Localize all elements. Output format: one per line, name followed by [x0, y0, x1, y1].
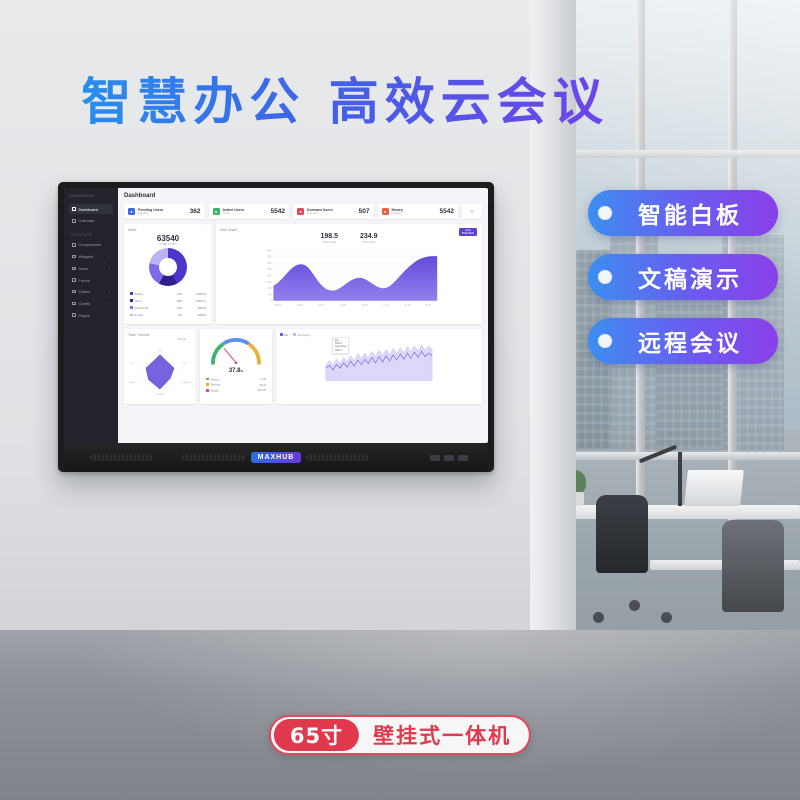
legend-total: 22874.4 [184, 298, 206, 303]
gauge-legend-label: Danger [211, 390, 220, 393]
kpi-value: 198.5 [320, 233, 338, 240]
widgets-icon [72, 255, 76, 259]
stat-value: 507 [359, 208, 370, 215]
gauge-legend-range: 66-100 [245, 389, 266, 393]
feature-pill-whiteboard: 智能白板 [588, 190, 778, 236]
dashboard-icon [72, 207, 76, 211]
sidebar-brand: DASHBOARD [69, 194, 113, 198]
svg-text:10-05: 10-05 [340, 305, 347, 307]
chevron-right-icon: › [109, 243, 110, 247]
chevron-right-icon: › [109, 290, 110, 294]
sidebar-item-dashboard[interactable]: Dashboard [69, 204, 113, 214]
gauge-legend-table: Normal 0-35 Warning 35-66 Danger 66-100 [204, 376, 268, 395]
sidebar-item-tables[interactable]: Tables › [69, 287, 113, 297]
stat-value: 362 [190, 208, 201, 215]
svg-text:11-19: 11-19 [405, 305, 411, 307]
team-transfer-card: Team Transfer ⋯ Trends [124, 329, 196, 404]
sidebar-item-label: Calendar [79, 218, 95, 223]
sales-value: 63540 [128, 234, 208, 243]
kpi-label: Dollar Total [320, 240, 338, 244]
bid-chart-svg [280, 338, 478, 384]
donut-chart [128, 248, 208, 286]
stat-sublabel: Active [223, 212, 268, 215]
table-row: Warning 35-66 [206, 383, 266, 387]
chart-tooltip: Bid 5934.4 Something 5981.7 [332, 337, 349, 355]
radar-series [146, 354, 174, 389]
sidebar-item-label: Dashboard [79, 207, 99, 212]
pill-label: 智能白板 [638, 196, 742, 230]
chevron-right-icon: › [109, 255, 110, 259]
legend-name: Sponsored [135, 306, 149, 310]
port-row [430, 455, 468, 461]
svg-text:400: 400 [267, 248, 272, 252]
table-row: E-mail 5% 4265.8 [130, 313, 206, 318]
more-options-icon[interactable]: ⋯ [204, 227, 208, 232]
page-title: Dashboard [124, 193, 482, 199]
user-clock-icon: ● [297, 208, 304, 215]
sidebar-item-label: Charts [79, 301, 91, 306]
sales-donut-card: Sales ⋯ 63540 MOBILE INFO Athlete 44% [124, 224, 212, 324]
table-row: Athlete 44% 37892.8 [130, 291, 206, 296]
sidebar-item-label: Tables [79, 289, 91, 294]
stat-sublabel: Dormant [307, 212, 356, 215]
speaker-grille [306, 454, 370, 461]
sale-graph-card: Sale Graph Total 5563/4920 198.5 Dollar … [216, 224, 482, 324]
stat-sublabel: Income [392, 212, 437, 215]
pill-label: 远程会议 [638, 324, 742, 358]
sidebar-item-label: Icons [79, 266, 89, 271]
card-title: Team Transfer [128, 333, 150, 337]
chevron-right-icon: › [109, 266, 110, 270]
svg-text:09-20: 09-20 [318, 305, 325, 307]
svg-text:08-21: 08-21 [275, 305, 282, 307]
legend-total: 4265.8 [184, 313, 206, 318]
brand-logo: MAXHUB [251, 452, 302, 463]
stat-card-money[interactable]: ● Money Income 5542 [378, 204, 459, 219]
svg-text:10-20: 10-20 [362, 305, 369, 307]
svg-text:250: 250 [267, 267, 272, 271]
stat-card-row: ● Pending Users Pending 362 ● Active Use… [124, 204, 482, 219]
svg-text:11-04: 11-04 [383, 305, 389, 307]
card-header: Sale Graph [220, 228, 478, 232]
pill-bullet-icon [598, 334, 612, 348]
users-icon: ● [128, 208, 135, 215]
tooltip-value-2: 5981.7 [335, 349, 346, 352]
svg-text:Football: Football [129, 381, 136, 384]
pill-bullet-icon [598, 206, 612, 220]
speaker-grille [182, 454, 246, 461]
table-row: Danger 66-100 [206, 389, 266, 393]
svg-text:350: 350 [267, 255, 272, 259]
legend-item-bid: Bid [280, 333, 288, 337]
sidebar-item-forms[interactable]: Forms › [69, 275, 113, 285]
display-screen: DASHBOARD Dashboard Calendar ELEMENTS Co… [64, 188, 488, 443]
stat-sublabel: Pending [138, 212, 187, 215]
badge-size-label: 65寸 [274, 719, 359, 751]
svg-text:Sales: Sales [183, 363, 187, 365]
stat-card-pending-users[interactable]: ● Pending Users Pending 362 [124, 204, 205, 219]
bottom-chart-row: Team Transfer ⋯ Trends [124, 329, 482, 404]
legend-total: 4560.8 [184, 305, 206, 310]
legend-pct: 5% [171, 313, 183, 318]
sidebar-group-label: ELEMENTS [71, 233, 113, 237]
legend-name: Athlete [135, 292, 144, 296]
legend-item-something: Something [293, 333, 310, 337]
stat-value: 5542 [440, 208, 454, 215]
badge-type-label: 壁挂式一体机 [373, 720, 511, 750]
chevron-right-icon: › [109, 301, 110, 305]
more-options-icon[interactable]: ⋯ [188, 332, 192, 337]
svg-text:12-04: 12-04 [425, 305, 432, 307]
sidebar-item-calendar[interactable]: Calendar [69, 216, 113, 226]
calendar-icon [72, 219, 76, 223]
bid-chart-card: Bid Something [276, 329, 482, 404]
table-row: Normal 0-35 [206, 378, 266, 382]
charts-icon [72, 302, 76, 306]
gauge-value: 37.8% [204, 368, 268, 374]
area-kpis: 198.5 Dollar Total 234.9 Float Total [220, 233, 478, 244]
headline: 智慧办公 高效云会议 [0, 62, 690, 134]
svg-text:Online: Online [158, 350, 163, 352]
sidebar-item-label: Forms [79, 278, 90, 283]
svg-text:200: 200 [267, 273, 272, 277]
legend-pct: 44% [171, 291, 183, 296]
sales-legend-table: Athlete 44% 37892.8 Direct 38% 22874.4 S… [128, 289, 208, 320]
card-title: Sale Graph [220, 228, 237, 232]
feature-pill-remote-meeting: 远程会议 [588, 318, 778, 364]
pages-icon [72, 313, 76, 317]
legend-name: E-mail [135, 313, 143, 317]
sidebar-item-label: Pages [79, 313, 90, 318]
dashboard-main: Dashboard ● Pending Users Pending 362 ● [118, 188, 488, 443]
sidebar-item-label: Widgets [79, 254, 93, 259]
gauge-svg [204, 333, 268, 367]
gauge-legend-label: Normal [211, 378, 219, 381]
dashboard-sidebar: DASHBOARD Dashboard Calendar ELEMENTS Co… [64, 188, 118, 443]
svg-text:300: 300 [267, 261, 272, 265]
svg-text:Cash: Cash [131, 363, 135, 365]
sidebar-item-components[interactable]: Components › [69, 240, 113, 250]
sales-subtitle: MOBILE INFO [128, 243, 208, 246]
sidebar-item-charts[interactable]: Charts › [69, 298, 113, 308]
gauge-needle [224, 348, 236, 362]
mid-chart-row: Sales ⋯ 63540 MOBILE INFO Athlete 44% [124, 224, 482, 324]
user-check-icon: ● [213, 208, 220, 215]
feature-pill-presentation: 文稿演示 [588, 254, 778, 300]
area-chart-svg: 400 350 300 250 200 150 100 50 0 [220, 245, 478, 308]
stat-value: 5542 [271, 208, 285, 215]
components-icon [72, 243, 76, 247]
sidebar-item-label: Components [79, 242, 102, 247]
kpi-label: Float Total [360, 240, 378, 244]
bid-legend: Bid Something [280, 333, 478, 337]
chip-bottom-label: 5563/4920 [462, 232, 474, 235]
legend-pct: 13% [171, 305, 183, 310]
svg-text:100: 100 [267, 286, 272, 290]
card-header: Sales ⋯ [128, 228, 208, 232]
forms-icon [72, 278, 76, 282]
legend-total: 37892.8 [184, 291, 206, 296]
wall-mounted-display: DASHBOARD Dashboard Calendar ELEMENTS Co… [58, 182, 494, 472]
card-title: Sales [128, 228, 136, 232]
product-badge: 65寸 壁挂式一体机 [269, 715, 531, 755]
pill-bullet-icon [598, 270, 612, 284]
table-row: Direct 38% 22874.4 [130, 298, 206, 303]
legend-pct: 38% [171, 298, 183, 303]
stat-card-dormant-users[interactable]: ● Dormant Users Dormant 507 [293, 204, 374, 219]
table-row: Sponsored 13% 4560.8 [130, 305, 206, 310]
tables-icon [72, 290, 76, 294]
radar-chart-svg: Online Sales Marketing Basketball Footba… [128, 341, 192, 399]
gauge-card: 37.8% Normal 0-35 Warning 35-66 [200, 329, 272, 404]
feature-pill-list: 智能白板 文稿演示 远程会议 [588, 190, 778, 382]
display-bezel-bottom: MAXHUB [64, 443, 488, 472]
chevron-right-icon: › [109, 278, 110, 282]
pill-label: 文稿演示 [638, 260, 742, 294]
legend-name: Direct [135, 299, 142, 303]
sidebar-item-pages[interactable]: Pages › [69, 310, 113, 320]
wallet-icon: ● [382, 208, 389, 215]
gauge-legend-range: 0-35 [245, 378, 266, 382]
speaker-grille [90, 454, 154, 461]
svg-text:Basketball: Basketball [156, 392, 164, 395]
svg-text:50: 50 [269, 292, 272, 296]
svg-text:150: 150 [267, 280, 272, 284]
icons-icon [72, 267, 76, 271]
svg-text:0: 0 [270, 299, 272, 303]
total-chip: Total 5563/4920 [459, 228, 477, 236]
dashboard-app: DASHBOARD Dashboard Calendar ELEMENTS Co… [64, 188, 488, 443]
gauge-legend-label: Warning [211, 384, 221, 387]
stat-card-active-users[interactable]: ● Active Users Active 5542 [209, 204, 290, 219]
svg-text:09-05: 09-05 [297, 305, 304, 307]
sidebar-item-icons[interactable]: Icons › [69, 263, 113, 273]
add-card-button[interactable]: + [462, 204, 482, 219]
sidebar-item-widgets[interactable]: Widgets › [69, 252, 113, 262]
gauge-legend-range: 35-66 [245, 383, 266, 387]
svg-text:Marketing: Marketing [183, 381, 190, 384]
kpi-value: 234.9 [360, 233, 378, 240]
chevron-right-icon: › [109, 313, 110, 317]
